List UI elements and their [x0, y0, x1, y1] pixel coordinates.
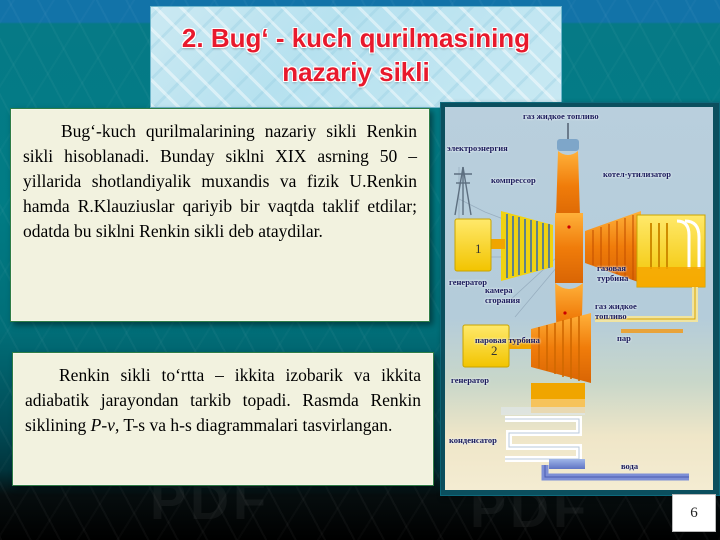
pylon-icon: [454, 167, 472, 215]
steam-turbine: [531, 313, 591, 413]
page-title: 2. Bug‘ - kuch qurilmasining nazariy sik…: [151, 7, 561, 89]
generator-1: 1: [455, 219, 491, 271]
figure-label-compressor: компрессор: [491, 175, 536, 185]
slide-title-box: 2. Bug‘ - kuch qurilmasining nazariy sik…: [150, 6, 562, 108]
combined-cycle-schematic-image: 1: [445, 107, 713, 490]
figure-label-condenser: конденсатор: [449, 435, 497, 445]
figure-label-steam-turbine: паровая турбина: [475, 335, 540, 345]
figure-label-steam: пар: [617, 333, 631, 343]
figure-label-generator-1: генератор: [449, 277, 487, 287]
figure-frame: 1: [440, 102, 720, 496]
body-paragraph-1: Bug‘-kuch qurilmalarining nazariy sikli …: [11, 109, 429, 252]
svg-text:1: 1: [475, 241, 482, 256]
waste-heat-boiler: [637, 215, 705, 287]
figure-label-electricity: электроэнергия: [447, 143, 508, 153]
body-paragraph-2: Renkin sikli to‘rtta – ikkita izobarik v…: [13, 353, 433, 446]
figure-label-fuel-top: газ жидкое топливо: [523, 111, 599, 121]
condenser: [505, 419, 579, 459]
generator-2: 2: [463, 325, 531, 367]
figure-label-combustor: камера сгорания: [485, 285, 520, 305]
figure-label-water: вода: [621, 461, 638, 471]
figure-label-fuel-mid: газ жидкое топливо: [595, 301, 637, 321]
presentation-slide: PDF PDF PDF PDF PDF 2. Bug‘ - kuch quril…: [0, 0, 720, 540]
figure-label-waste-boiler: котел-утилизатор: [603, 169, 671, 179]
compressor-blades: [501, 211, 553, 281]
slide-number-badge: 6: [672, 494, 716, 532]
body-paragraph-2-italic: P-v: [91, 415, 115, 435]
body-textbox-1: Bug‘-kuch qurilmalarining nazariy sikli …: [10, 108, 430, 322]
figure-label-generator-2: генератор: [451, 375, 489, 385]
figure-label-gas-turbine: газовая турбина: [597, 263, 628, 283]
body-textbox-2: Renkin sikli to‘rtta – ikkita izobarik v…: [12, 352, 434, 486]
svg-text:2: 2: [491, 343, 498, 358]
body-paragraph-2-part-b: , T-s va h-s diagrammalari tasvirlangan.: [115, 415, 393, 435]
